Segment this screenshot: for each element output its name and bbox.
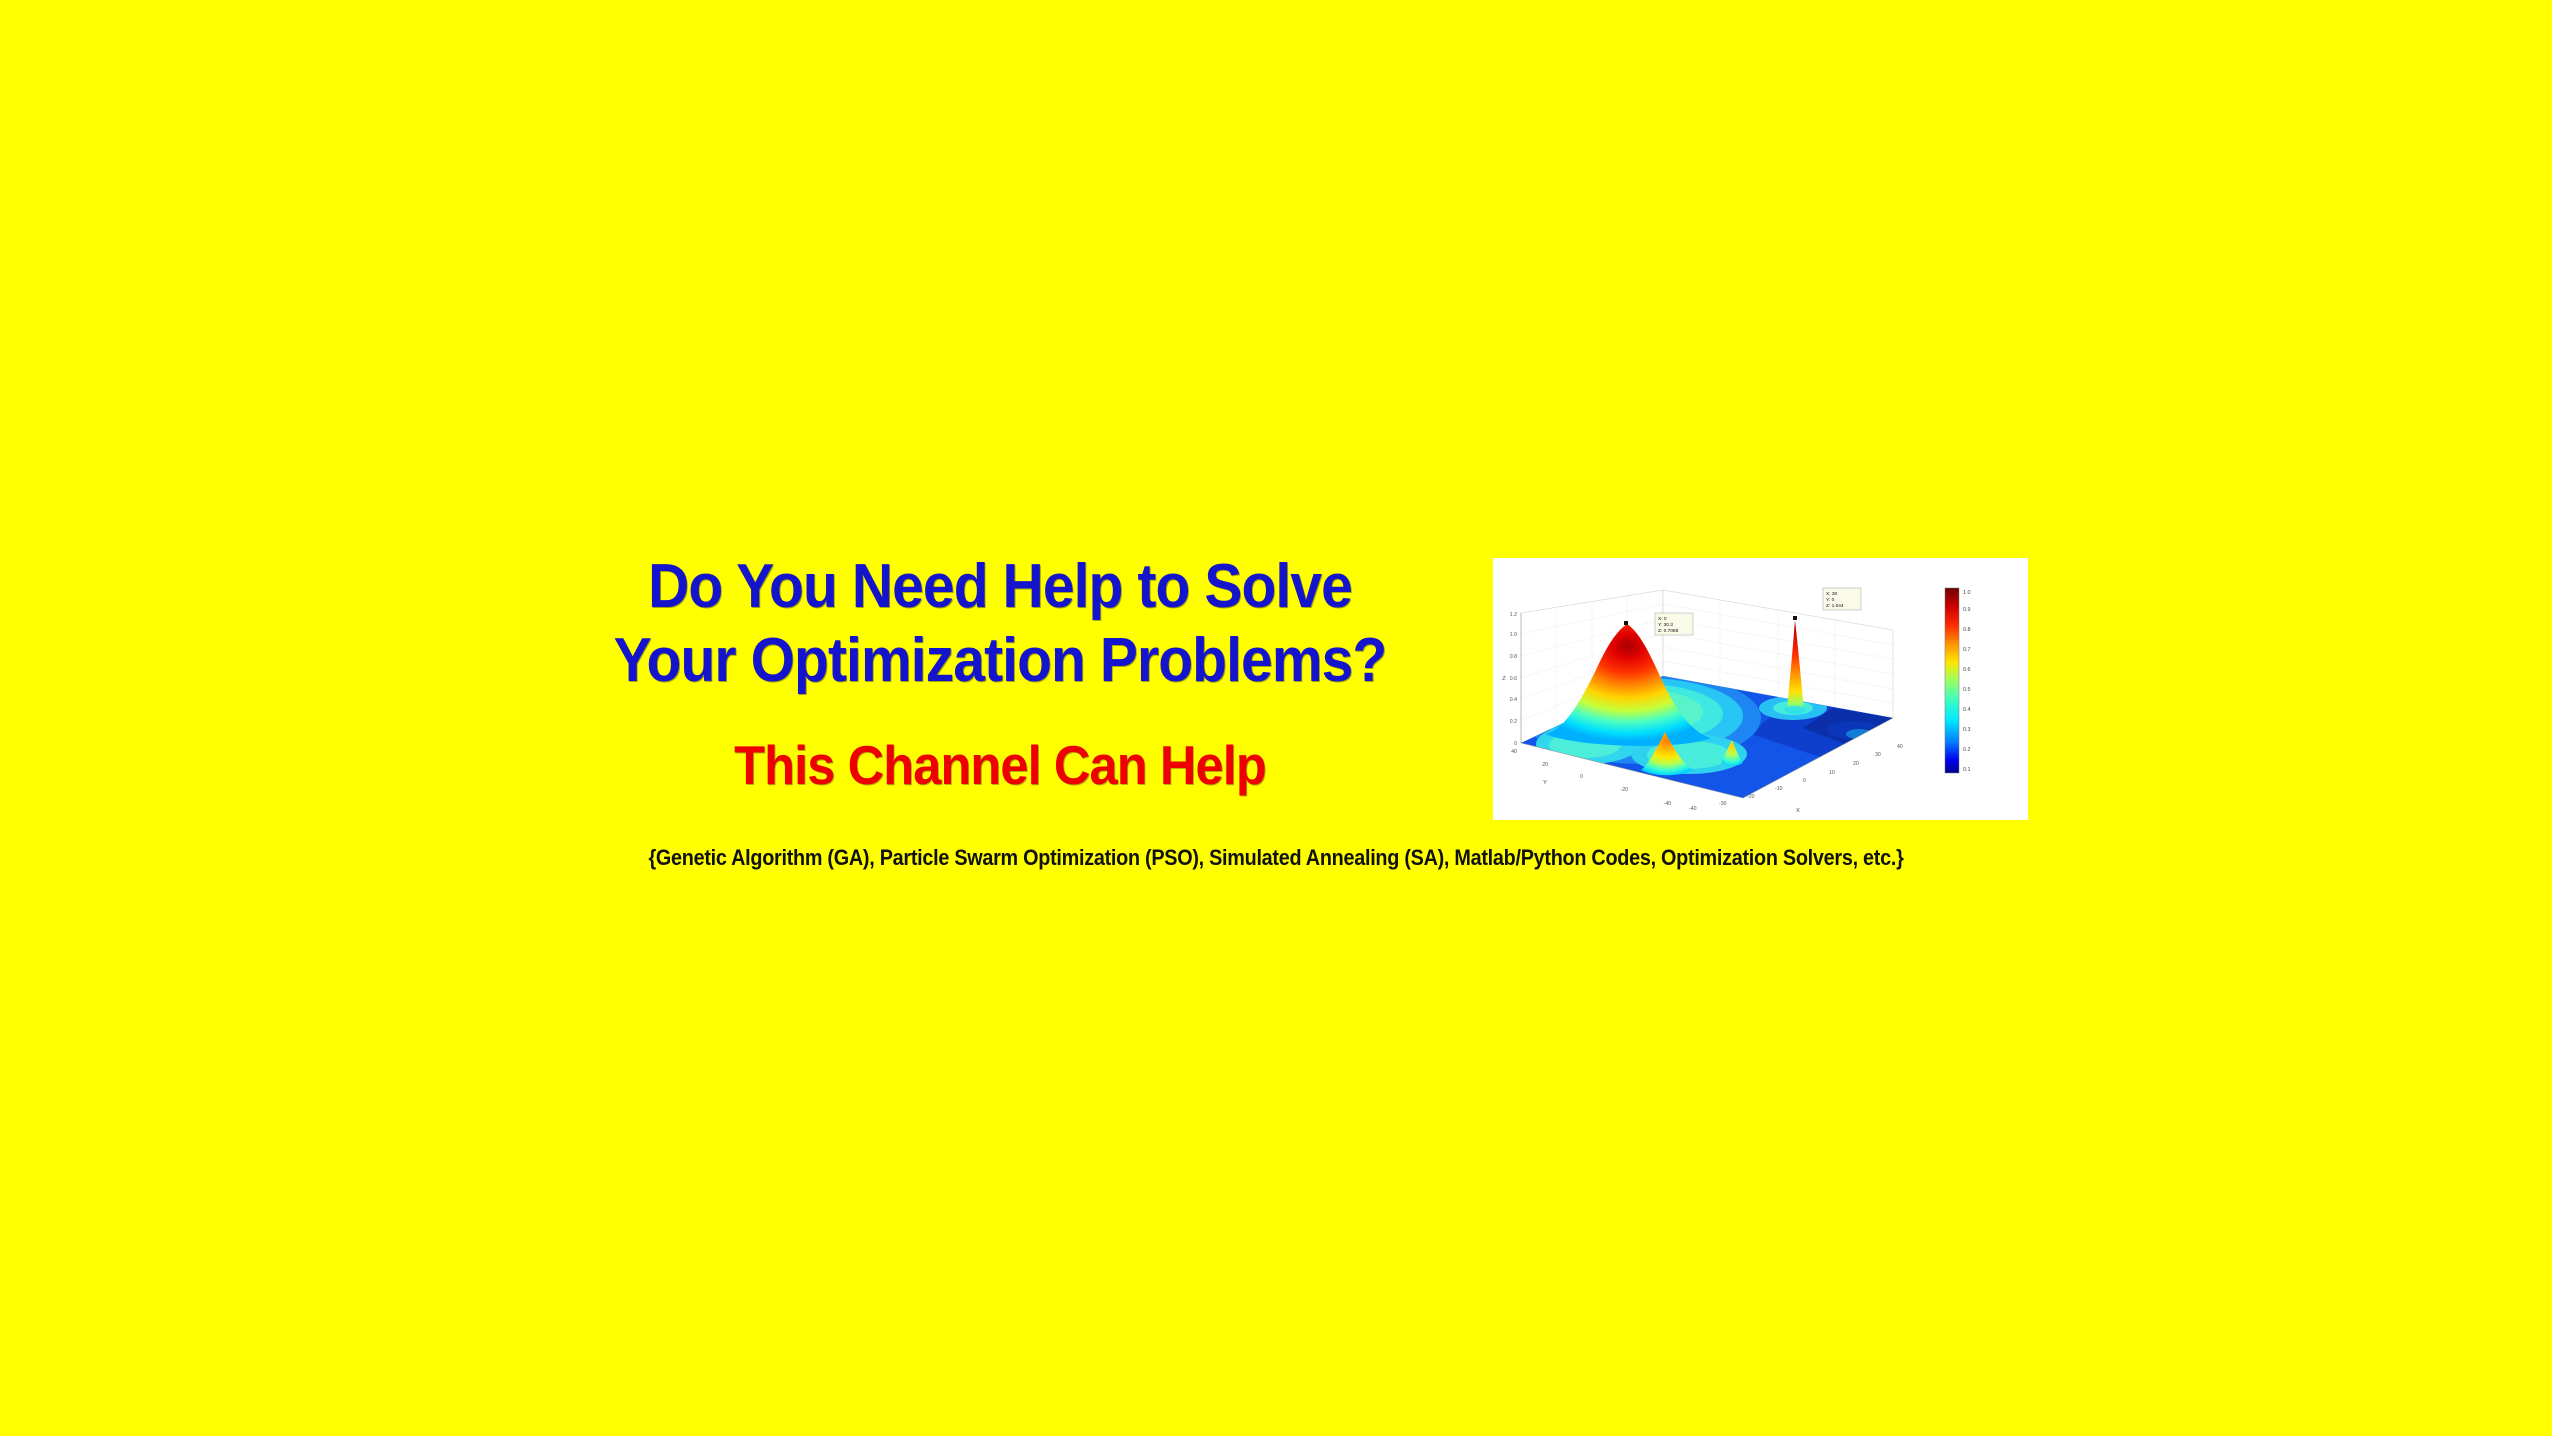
headline-line-2: Your Optimization Problems? [558,624,1441,698]
z-axis-label: Z [1502,676,1506,682]
x-tick-7: 30 [1875,752,1881,758]
y-tick-1: 20 [1542,762,1548,768]
z-tick-4: 0.8 [1510,654,1517,660]
x-tick-8: 40 [1897,744,1903,750]
z-tick-6: 1.2 [1510,612,1517,618]
datatip-1-y: Y: 30.3 [1658,622,1673,628]
datatip-1-x: X: 0 [1658,616,1667,622]
subheadline: This Channel Can Help [558,732,1441,798]
x-tick-6: 20 [1853,761,1859,767]
colorbar-tick-9: 1.0 [1963,590,1971,596]
y-tick-3: -20 [1621,787,1629,793]
promo-banner: Do You Need Help to Solve Your Optimizat… [0,0,2552,1436]
z-tick-5: 1.0 [1510,632,1517,638]
headline-line-1: Do You Need Help to Solve [558,550,1441,624]
datatip-2-x: X: 30 [1826,591,1838,597]
colorbar-tick-4: 0.5 [1963,687,1971,693]
y-tick-2: 0 [1580,774,1583,780]
colorbar-tick-2: 0.3 [1963,727,1971,733]
datatip-1-marker [1624,621,1628,625]
colorbar-tick-7: 0.8 [1963,627,1971,633]
colorbar-tick-3: 0.4 [1963,707,1971,713]
colorbar-tick-6: 0.7 [1963,647,1971,653]
z-tick-1: 0.2 [1510,719,1517,725]
x-tick-1: -30 [1719,801,1727,807]
colorbar-tick-5: 0.6 [1963,667,1971,673]
z-tick-2: 0.4 [1510,697,1517,703]
caption-line: {Genetic Algorithm (GA), Particle Swarm … [128,845,2425,871]
colorbar-tick-8: 0.9 [1963,607,1971,613]
x-tick-0: -40 [1689,806,1697,812]
y-tick-0: 40 [1511,749,1517,755]
colorbar-tick-1: 0.2 [1963,747,1971,753]
x-tick-3: -10 [1775,786,1783,792]
x-tick-2: -20 [1747,794,1755,800]
surface-plot-svg: 0 0.2 0.4 0.6 0.8 1.0 1.2 Z [1493,558,2028,820]
headline-text-block: Do You Need Help to Solve Your Optimizat… [520,550,1480,798]
x-axis-label: X [1796,808,1800,814]
z-tick-0: 0 [1514,741,1517,747]
datatip-2-marker [1793,616,1797,620]
colorbar-tick-0: 0.1 [1963,767,1971,773]
z-tick-3: 0.6 [1510,676,1517,682]
surface-plot-panel: 0 0.2 0.4 0.6 0.8 1.0 1.2 Z [1493,558,2028,820]
y-axis-label: Y [1543,780,1547,786]
datatip-2-z: Z: 1.044 [1826,603,1844,609]
y-tick-4: -40 [1664,801,1672,807]
x-tick-4: 0 [1803,778,1806,784]
datatip-1-z: Z: 0.7088 [1658,628,1679,634]
x-tick-5: 10 [1829,770,1835,776]
datatip-2-y: Y: 0 [1826,597,1835,603]
